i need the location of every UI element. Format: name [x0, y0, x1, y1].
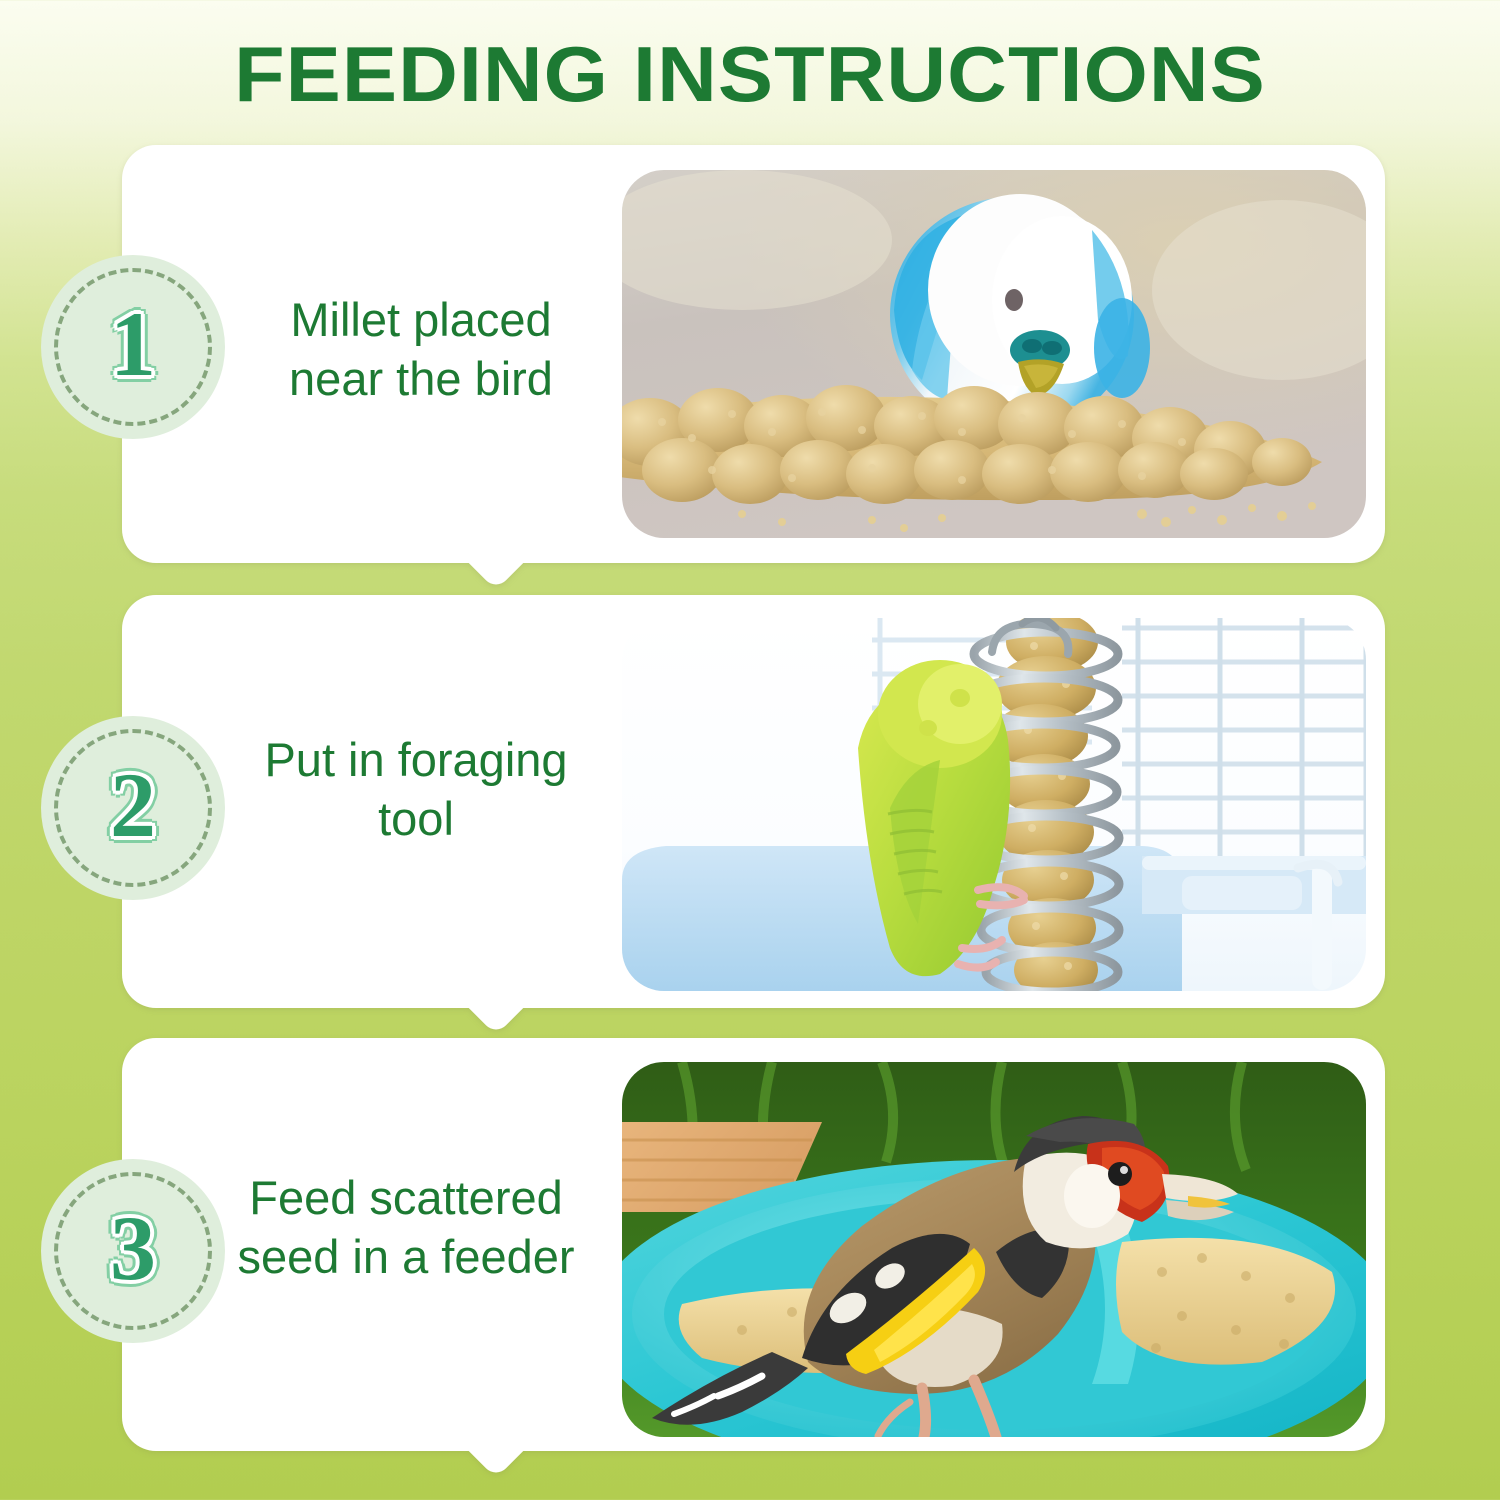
step-text-3: Feed scattered seed in a feeder [206, 1168, 606, 1286]
page-title: FEEDING INSTRUCTIONS [0, 34, 1500, 116]
step-number-1: 1 [41, 255, 225, 439]
step-photo-2 [622, 618, 1366, 991]
step-text-2: Put in foraging tool [226, 730, 606, 848]
speech-bubble-tail-1 [448, 559, 544, 593]
speech-bubble-tail-2 [448, 1004, 544, 1038]
step-number-badge-2: 2 [41, 716, 225, 900]
budgerigar-millet-illustration [622, 170, 1366, 538]
step-photo-3 [622, 1062, 1366, 1437]
step-photo-1 [622, 170, 1366, 538]
step-number-badge-3: 3 [41, 1159, 225, 1343]
step-number-badge-1: 1 [41, 255, 225, 439]
step-text-1: Millet placed near the bird [246, 290, 596, 408]
speech-bubble-tail-3 [448, 1447, 544, 1481]
step-number-3: 3 [41, 1159, 225, 1343]
step-number-2: 2 [41, 716, 225, 900]
foraging-tool-illustration [622, 618, 1366, 991]
goldfinch-feeder-illustration [622, 1062, 1366, 1437]
